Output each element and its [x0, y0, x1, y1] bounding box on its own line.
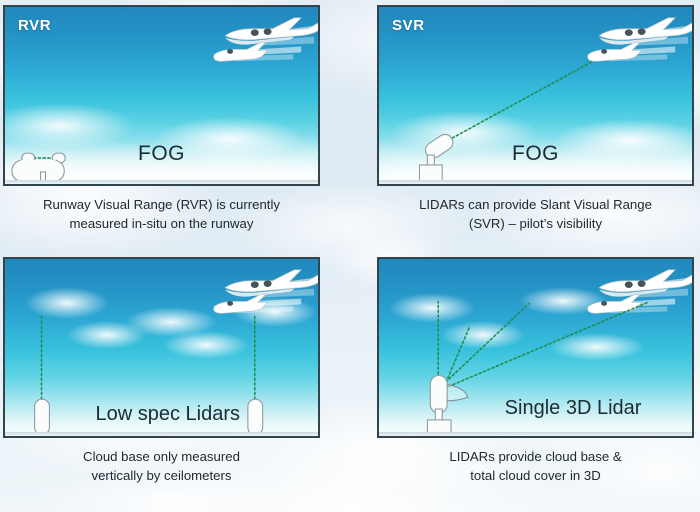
panel-rvr: RVR FOG Runway Visual Range (RVR) is cur…: [3, 5, 320, 247]
scene-word-single-3d-lidar: Single 3D Lidar: [505, 397, 642, 420]
laser-beam-icon: [448, 52, 609, 140]
panel-single-3d-lidar: Single 3D Lidar LIDARs provide cloud bas…: [377, 257, 694, 499]
ground-line: [5, 432, 318, 436]
scene-rvr: RVR FOG: [3, 5, 320, 186]
scene-low-spec-lidars: Low spec Lidars: [3, 257, 320, 438]
caption-line: LIDARs can provide Slant Visual Range: [391, 196, 680, 215]
caption-line: measured in-situ on the runway: [17, 215, 306, 234]
panel-tag-svr: SVR: [392, 17, 425, 34]
caption-line: (SVR) – pilot’s visibility: [391, 215, 680, 234]
scanning-lidar-icon: [427, 376, 467, 438]
caption-line: total cloud cover in 3D: [391, 467, 680, 486]
scene-word-fog: FOG: [512, 142, 559, 166]
panel-svr: SVR FOG LIDARs can provide Slant Visual …: [377, 5, 694, 247]
caption-line: Cloud base only measured: [17, 448, 306, 467]
scene-svr: SVR FOG: [377, 5, 694, 186]
caption-rvr: Runway Visual Range (RVR) is currently m…: [3, 196, 320, 233]
lidar-scanner-icon: [419, 131, 455, 185]
ceilometer-icon: [248, 399, 263, 435]
panel-tag-rvr: RVR: [18, 17, 51, 34]
caption-line: Runway Visual Range (RVR) is currently: [17, 196, 306, 215]
scene-single-3d-lidar: Single 3D Lidar: [377, 257, 694, 438]
ground-line: [379, 432, 692, 436]
caption-low-spec-lidars: Cloud base only measured vertically by c…: [3, 448, 320, 485]
scene-word-low-spec-lidars: Low spec Lidars: [95, 403, 240, 426]
laser-beam-icon: [442, 303, 529, 385]
panel-low-spec-lidars: Low spec Lidars Cloud base only measured…: [3, 257, 320, 499]
ground-line: [5, 180, 318, 184]
laser-beam-icon: [444, 302, 647, 388]
scene-word-fog: FOG: [138, 142, 185, 166]
figure-root: RVR FOG Runway Visual Range (RVR) is cur…: [0, 0, 700, 512]
caption-single-3d-lidar: LIDARs provide cloud base & total cloud …: [377, 448, 694, 485]
caption-line: vertically by ceilometers: [17, 467, 306, 486]
ceilometer-icon: [35, 399, 50, 435]
caption-line: LIDARs provide cloud base &: [391, 448, 680, 467]
ground-line: [379, 180, 692, 184]
caption-svr: LIDARs can provide Slant Visual Range (S…: [377, 196, 694, 233]
